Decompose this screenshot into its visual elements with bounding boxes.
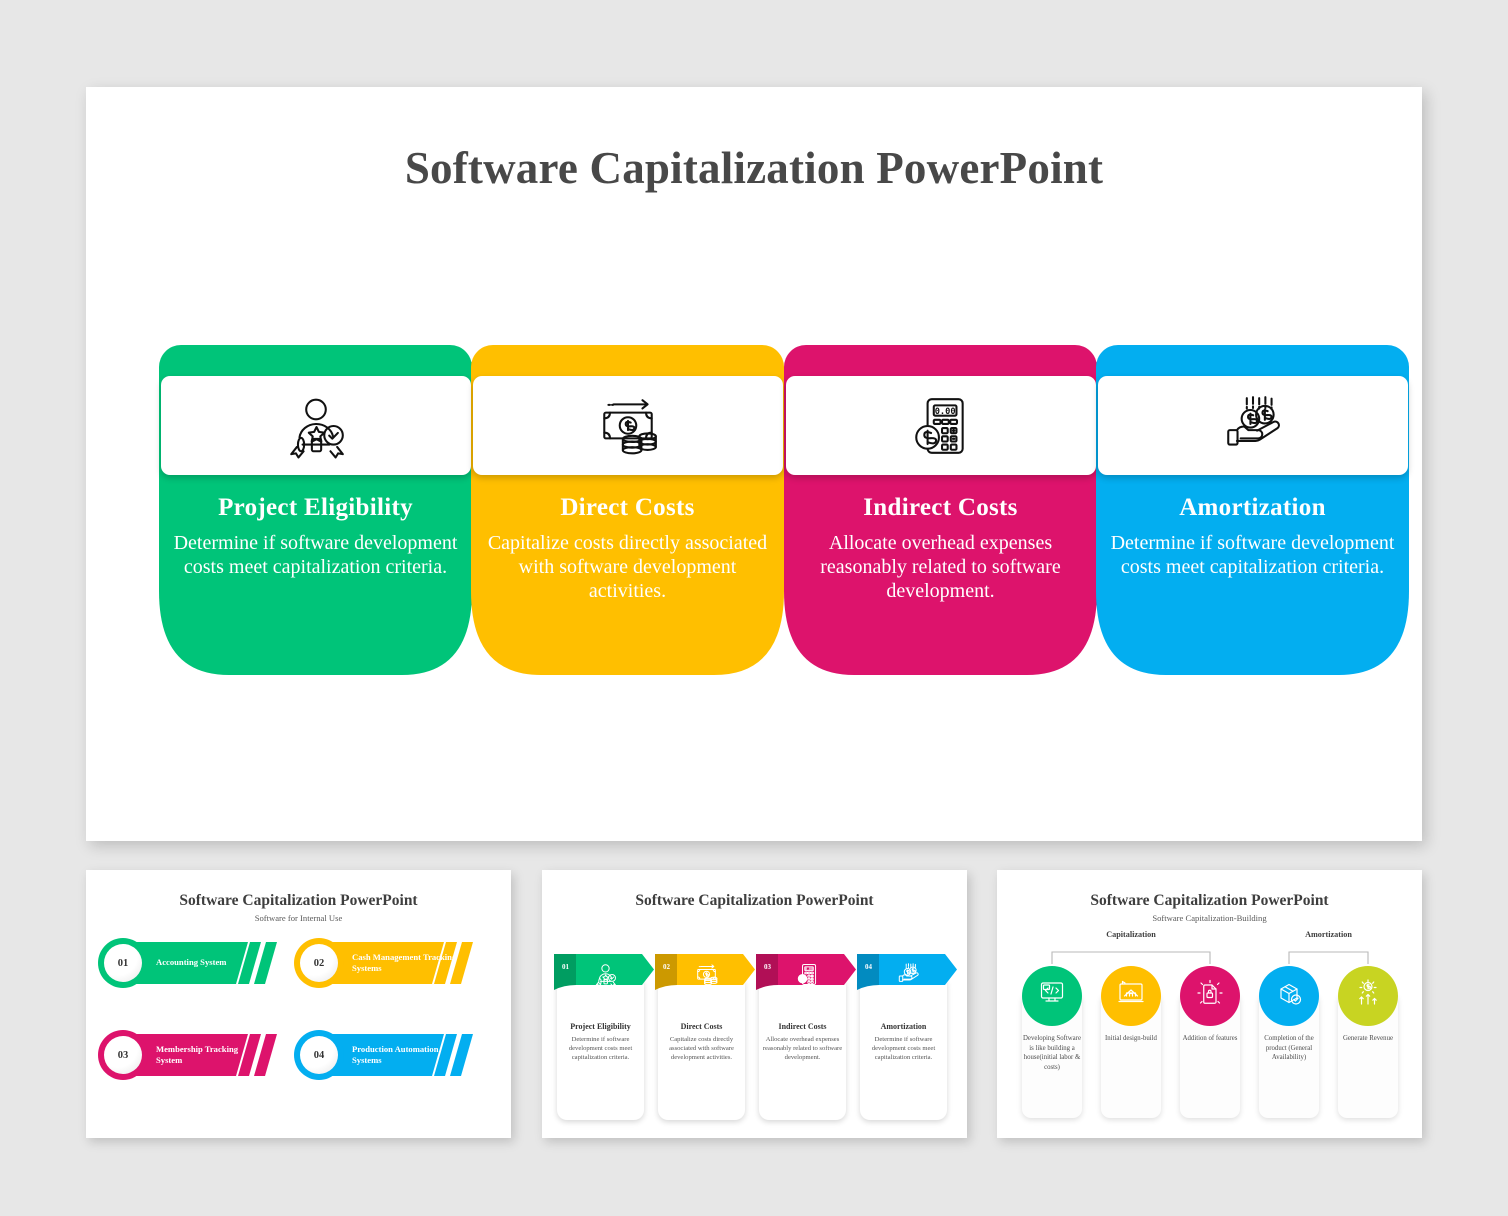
timeline-label: Completion of the product (General Avail… [1258, 1034, 1320, 1063]
icon-panel-2 [473, 376, 783, 475]
certified-person-diploma-icon [594, 962, 617, 992]
card-body: Capitalize costs directly associated wit… [485, 531, 770, 604]
icon-panel-1 [161, 376, 471, 475]
thumbnail-1-title: Software Capitalization PowerPoint [86, 892, 511, 910]
banner-label: Membership Tracking System [156, 1030, 261, 1080]
feature-card-3[interactable]: 0.00 Indirect Costs Allocate overhead ex… [784, 345, 1097, 675]
card-heading: Direct Costs [485, 493, 770, 523]
hand-receiving-coins-icon [1222, 393, 1284, 459]
timeline-circle [1022, 966, 1082, 1026]
card-body: Determine if software development costs … [173, 531, 458, 580]
timeline-label: Initial design-build [1100, 1034, 1162, 1044]
banknote-coins-transfer-icon [695, 962, 718, 992]
feature-card-2[interactable]: Direct Costs Capitalize costs directly a… [471, 345, 784, 675]
banner-item-01[interactable]: 01 Accounting System [98, 938, 290, 988]
package-check-icon [1274, 978, 1304, 1015]
timeline-circle [1338, 966, 1398, 1026]
document-sparkle-icon [1195, 978, 1225, 1015]
ribbon-number: 03 [764, 963, 771, 971]
growth-chart-coin-icon [1353, 978, 1383, 1015]
card-text-4: Amortization Determine if software devel… [1110, 493, 1395, 579]
ribbon-number: 02 [663, 963, 670, 971]
ribbon-number: 01 [562, 963, 569, 971]
banner-label: Cash Management Tracking Systems [352, 938, 457, 988]
hand-receiving-coins-icon [897, 962, 920, 992]
icon-panel-4 [1098, 376, 1408, 475]
ribbon-body: Capitalize costs directly associated wit… [659, 1035, 744, 1062]
thumbnail-2-title: Software Capitalization PowerPoint [542, 892, 967, 910]
banknote-coins-transfer-icon [597, 393, 659, 459]
banner-number-badge: 02 [294, 938, 344, 988]
thumbnail-slide-1[interactable]: Software Capitalization PowerPoint Softw… [86, 870, 511, 1138]
timeline-label: Generate Revenue [1337, 1034, 1399, 1044]
card-body: Determine if software development costs … [1110, 531, 1395, 580]
ribbon-body: Determine if software development costs … [861, 1035, 946, 1062]
calculator-dollar-icon: 0.00 [796, 962, 819, 992]
thumbnail-3-subtitle: Software Capitalization-Building [997, 913, 1422, 923]
ribbon-heading: Indirect Costs [759, 1022, 846, 1031]
page-title: Software Capitalization PowerPoint [86, 142, 1422, 194]
timeline-circle [1101, 966, 1161, 1026]
timeline-circle [1259, 966, 1319, 1026]
ribbon-heading: Project Eligibility [557, 1022, 644, 1031]
timeline-circle [1180, 966, 1240, 1026]
banner-number-badge: 01 [98, 938, 148, 988]
banner-number: 01 [104, 944, 142, 982]
thumbnail-1-subtitle: Software for Internal Use [86, 913, 511, 923]
card-body: Allocate overhead expenses reasonably re… [798, 531, 1083, 604]
banner-item-03[interactable]: 03 Membership Tracking System [98, 1030, 290, 1080]
feature-card-4[interactable]: Amortization Determine if software devel… [1096, 345, 1409, 675]
banner-number: 04 [300, 1036, 338, 1074]
card-row: Project Eligibility Determine if softwar… [86, 345, 1422, 675]
monitor-code-icon [1037, 978, 1067, 1015]
icon-panel-3: 0.00 [786, 376, 1096, 475]
svg-text:0.00: 0.00 [935, 407, 956, 417]
blueprint-house-icon [1116, 978, 1146, 1015]
svg-text:0.00: 0.00 [805, 967, 813, 971]
banner-item-04[interactable]: 04 Production Automation Systems [294, 1030, 486, 1080]
card-text-1: Project Eligibility Determine if softwar… [173, 493, 458, 579]
timeline-label: Developing Software is like building a h… [1021, 1034, 1083, 1073]
card-heading: Amortization [1110, 493, 1395, 523]
calculator-dollar-icon: 0.00 [910, 393, 972, 459]
banner-label: Production Automation Systems [352, 1030, 457, 1080]
thumbnail-slide-3[interactable]: Software Capitalization PowerPoint Softw… [997, 870, 1422, 1138]
certified-person-diploma-icon [285, 393, 347, 459]
ribbon-body: Allocate overhead expenses reasonably re… [760, 1035, 845, 1062]
bracket-label-2: Amortization [1269, 930, 1389, 939]
ribbon-heading: Amortization [860, 1022, 947, 1031]
card-heading: Indirect Costs [798, 493, 1083, 523]
ribbon-body: Determine if software development costs … [558, 1035, 643, 1062]
main-slide[interactable]: Software Capitalization PowerPoint Proje… [86, 87, 1422, 841]
banner-label: Accounting System [156, 938, 261, 988]
thumbnail-slide-2[interactable]: Software Capitalization PowerPoint 01 Pr… [542, 870, 967, 1138]
feature-card-1[interactable]: Project Eligibility Determine if softwar… [159, 345, 472, 675]
card-text-3: Indirect Costs Allocate overhead expense… [798, 493, 1083, 604]
banner-item-02[interactable]: 02 Cash Management Tracking Systems [294, 938, 486, 988]
banner-number: 02 [300, 944, 338, 982]
timeline-label: Addition of features [1179, 1034, 1241, 1044]
banner-number-badge: 04 [294, 1030, 344, 1080]
card-heading: Project Eligibility [173, 493, 458, 523]
card-text-2: Direct Costs Capitalize costs directly a… [485, 493, 770, 604]
banner-number: 03 [104, 1036, 142, 1074]
screenshot-root: Software Capitalization PowerPoint Proje… [0, 0, 1508, 1216]
ribbon-number: 04 [865, 963, 872, 971]
banner-number-badge: 03 [98, 1030, 148, 1080]
bracket-label-1: Capitalization [1071, 930, 1191, 939]
thumbnail-3-title: Software Capitalization PowerPoint [997, 892, 1422, 910]
ribbon-heading: Direct Costs [658, 1022, 745, 1031]
